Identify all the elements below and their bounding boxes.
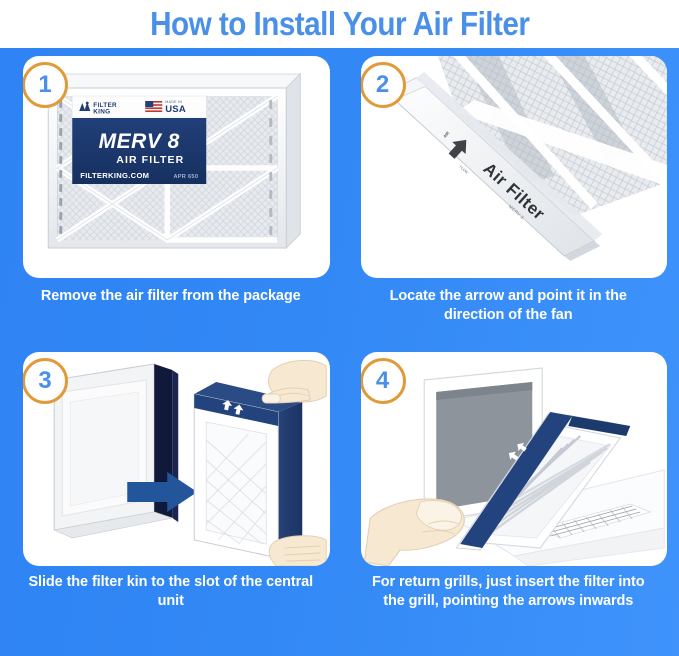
step-3-card: 3	[23, 352, 330, 566]
infographic-page: How to Install Your Air Filter	[0, 0, 679, 656]
step-4-caption: For return grills, just insert the filte…	[348, 573, 670, 611]
header-bar: How to Install Your Air Filter	[0, 0, 679, 48]
hand	[364, 499, 464, 566]
svg-text:KING: KING	[93, 108, 110, 115]
step-3-caption: Slide the filter kin to the slot of the …	[10, 573, 332, 611]
step-2: AIR FLOW Air Filter MERV 8	[348, 56, 670, 346]
svg-text:APR 650: APR 650	[173, 174, 198, 180]
hand-bottom	[269, 536, 326, 566]
step-4-badge: 4	[361, 358, 406, 404]
svg-text:USA: USA	[165, 104, 186, 115]
svg-text:AIR FILTER: AIR FILTER	[116, 154, 184, 166]
step-4: 4 For return grills, just insert the fil…	[348, 352, 670, 650]
steps-board: FILTER KING	[0, 48, 679, 656]
svg-text:MERV 8: MERV 8	[99, 130, 180, 153]
step-1: FILTER KING	[10, 56, 332, 346]
steps-grid: FILTER KING	[0, 48, 679, 656]
step-4-card: 4	[361, 352, 668, 566]
packaged-merv8-filter-photo: FILTER KING	[23, 56, 330, 278]
step-2-card: AIR FLOW Air Filter MERV 8	[361, 56, 668, 278]
step-3-badge: 3	[23, 358, 68, 404]
step-1-badge: 1	[23, 62, 68, 108]
step-1-card: FILTER KING	[23, 56, 330, 278]
filter-edge-arrow-photo: AIR FLOW Air Filter MERV 8	[361, 56, 668, 278]
svg-text:FILTERKING.COM: FILTERKING.COM	[80, 171, 149, 180]
step-3: 3 Slide the filter kin to the slot of th…	[10, 352, 332, 650]
step-2-badge: 2	[361, 62, 406, 108]
step-1-caption: Remove the air filter from the package	[10, 287, 332, 306]
step-2-caption: Locate the arrow and point it in the dir…	[348, 287, 670, 325]
hand-top	[262, 360, 326, 403]
filter-into-slot-illustration	[23, 352, 330, 566]
page-title: How to Install Your Air Filter	[150, 5, 529, 43]
filter-into-return-grill-illustration	[361, 352, 668, 566]
